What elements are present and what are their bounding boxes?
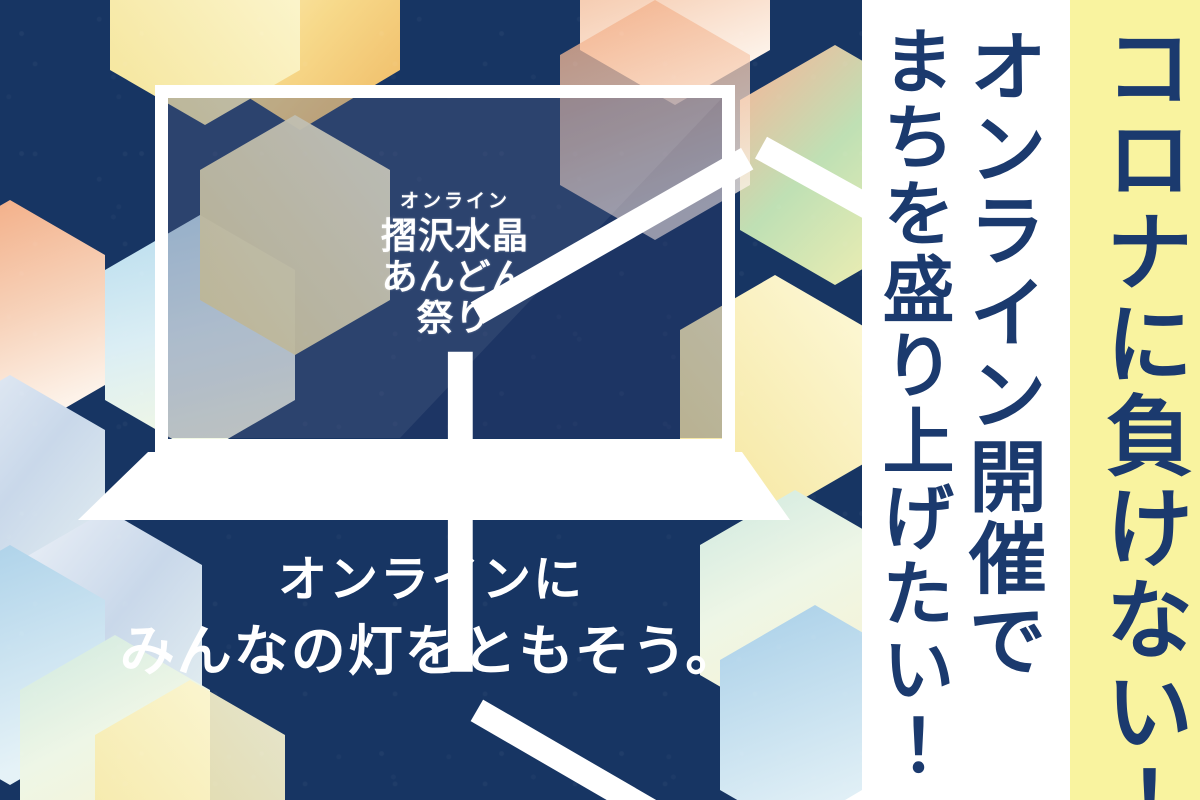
- logo-line-online: オンライン: [400, 192, 510, 211]
- tagline-line-2: みんなの灯をともそう。: [0, 616, 862, 688]
- artwork-panel: オンライン 摺沢水晶 あんどん 祭り オンラインに みんなの灯をともそう。: [0, 0, 862, 800]
- logo-line-andon: あんどん: [382, 259, 529, 297]
- vertical-text-panel: まちを盛り上げたい！ オンライン開催で コロナに負けない！: [862, 0, 1200, 800]
- vertical-text-corona: コロナに負けない！: [1098, 0, 1186, 800]
- logo-line-matsuri: 祭り: [417, 300, 493, 338]
- logo-line-surisawa: 摺沢水晶: [381, 218, 529, 256]
- vertical-text-machi: まちを盛り上げたい！: [876, 0, 948, 800]
- vertical-text-online: オンライン開催で: [962, 0, 1040, 800]
- poster-canvas: オンライン 摺沢水晶 あんどん 祭り オンラインに みんなの灯をともそう。 まち…: [0, 0, 1200, 800]
- tagline-line-1: オンラインに: [0, 548, 862, 612]
- logo-text-block: オンライン 摺沢水晶 あんどん 祭り: [330, 120, 580, 410]
- hexagon-logo-badge: オンライン 摺沢水晶 あんどん 祭り: [330, 120, 580, 410]
- tagline-block: オンラインに みんなの灯をともそう。: [0, 548, 862, 687]
